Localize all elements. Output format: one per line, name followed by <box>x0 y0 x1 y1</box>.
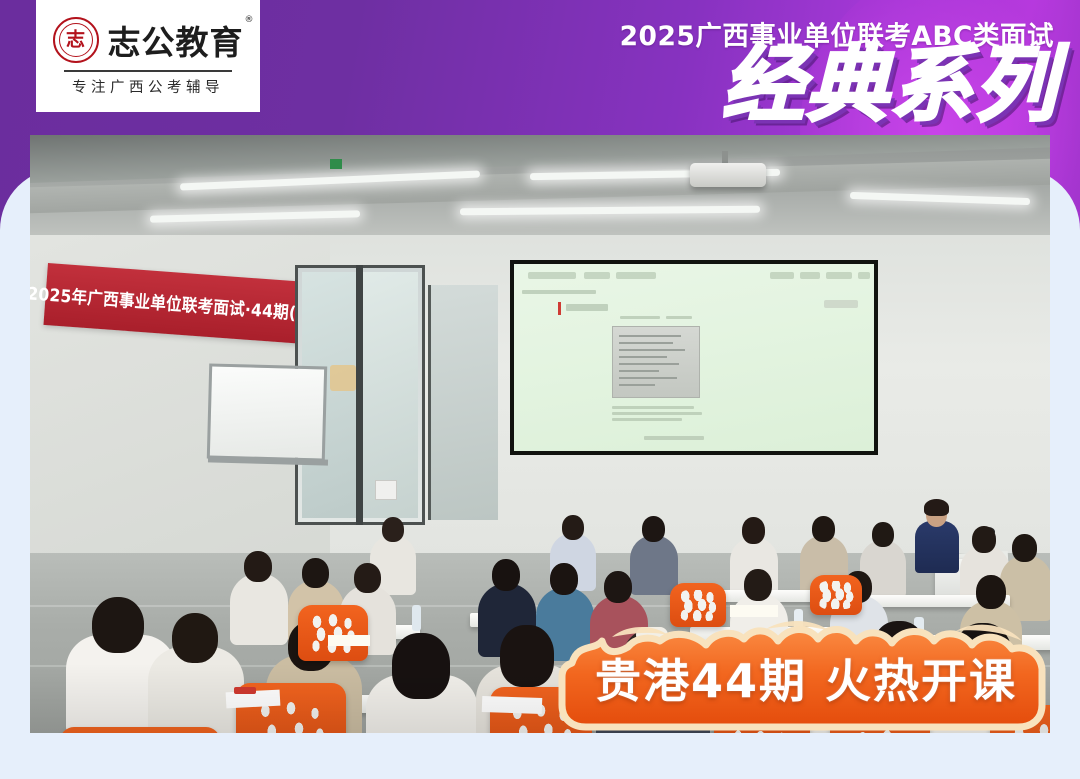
brand-logo-row: 志 志公教育® <box>53 15 244 65</box>
registered-mark-icon: ® <box>245 15 255 25</box>
seal-icon: 志 <box>53 17 99 63</box>
student-head <box>244 551 272 582</box>
student-head <box>1012 534 1037 562</box>
student-head <box>642 516 665 542</box>
brand-tagline: 专注广西公考辅导 <box>72 76 224 97</box>
student-head <box>382 517 404 542</box>
paper-sheet <box>328 635 370 646</box>
student-head <box>492 559 520 591</box>
screen-brand-logo <box>824 300 858 308</box>
brand-name: 志公教育® <box>108 16 244 64</box>
side-glass-panel <box>428 285 498 520</box>
student <box>630 535 678 595</box>
divider <box>64 70 232 71</box>
student-head <box>302 558 329 588</box>
chair <box>810 575 862 615</box>
chair <box>298 605 368 661</box>
student-head <box>354 563 381 593</box>
water-bottle <box>412 605 421 631</box>
wall-poster <box>330 365 356 391</box>
projection-screen-content <box>514 264 874 451</box>
student-head <box>604 571 632 603</box>
seal-character: 志 <box>66 31 85 50</box>
student-head <box>562 515 584 540</box>
student-head <box>92 597 144 653</box>
student-head <box>172 613 218 663</box>
student-head <box>744 569 772 601</box>
student-head <box>812 516 835 542</box>
projection-screen <box>510 260 878 455</box>
screen-accent-bar <box>558 302 561 315</box>
student-head <box>972 526 996 553</box>
student <box>230 573 288 645</box>
door-post <box>356 265 363 525</box>
page-title: 经典系列 <box>722 44 1058 128</box>
projector-icon <box>690 163 766 187</box>
screen-document <box>612 326 700 398</box>
whiteboard <box>207 363 327 461</box>
exit-sign-icon <box>330 159 342 169</box>
teacher-hair <box>924 499 949 516</box>
student-head <box>742 517 765 544</box>
student-head <box>872 522 894 547</box>
screen-toolbar <box>520 272 868 279</box>
student-head <box>976 575 1006 609</box>
floor-sign <box>375 480 397 500</box>
brand-logo: 志 志公教育® 专注广西公考辅导 <box>36 0 260 112</box>
student-head <box>550 563 578 595</box>
wall-banner-text: 2025年广西事业单位联考面试·44期(贵港) <box>30 280 336 327</box>
teacher <box>915 521 959 573</box>
paper-sheet <box>730 605 778 617</box>
promo-badge-label: 贵港44期 火热开课 <box>556 645 1056 711</box>
promo-badge[interactable]: 贵港44期 火热开课 <box>556 619 1056 731</box>
